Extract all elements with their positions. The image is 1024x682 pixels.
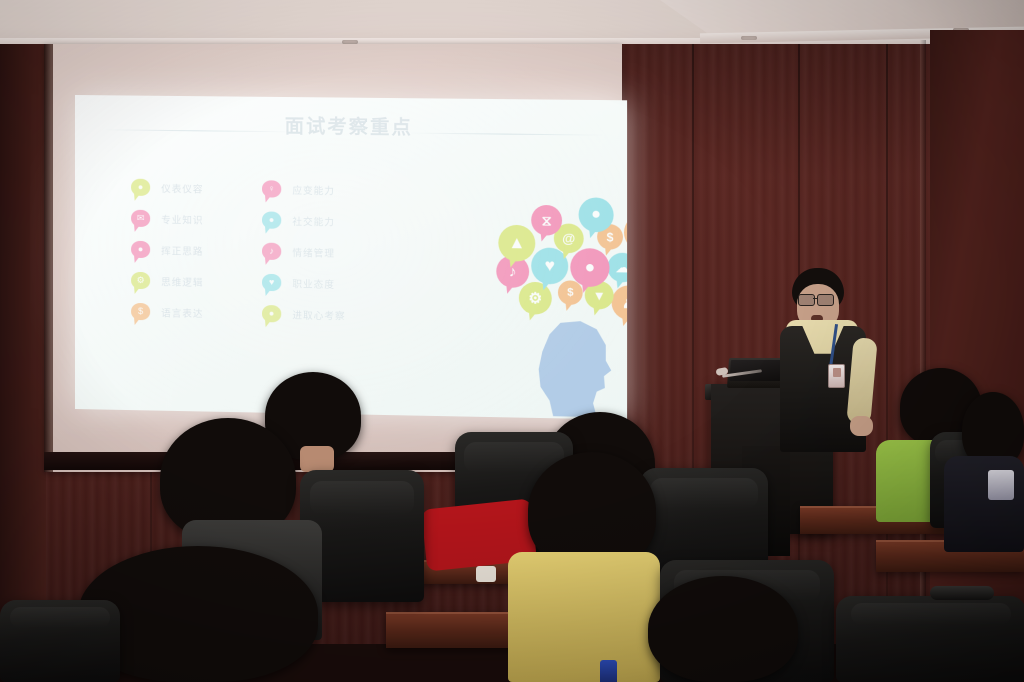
- slide-bullet-2: ✉专业知识: [131, 203, 203, 235]
- slide-bullet-label: 语言表达: [161, 305, 203, 320]
- heart-icon: ♥: [531, 247, 568, 284]
- projected-slide: 面试考察重点 ●仪表仪容✉专业知识●挥正思路⚙思维逻辑$语言表达 ♀应变能力●社…: [75, 95, 627, 420]
- glasses-icon: [798, 294, 838, 304]
- speech-bubble-envelope-icon: ✉: [131, 210, 150, 227]
- slide-bullet-label: 进取心考察: [292, 307, 345, 322]
- slide-bullet-1: ♀应变能力: [262, 173, 346, 205]
- screen-frame-left: [44, 44, 53, 472]
- graduation-cap-icon: ▲: [498, 225, 535, 262]
- chair: [0, 600, 120, 682]
- speaker: [770, 268, 880, 488]
- audience-member-yellow-shirt: [508, 552, 660, 682]
- blue-water-bottle: [600, 660, 617, 682]
- head-silhouette-icon: [533, 318, 624, 417]
- speech-bubble-gear-icon: ⚙: [131, 272, 150, 289]
- slide-bullet-1: ●仪表仪容: [131, 172, 203, 204]
- jacket-logo-patch: [988, 470, 1014, 500]
- slide-bullet-5: ●进取心考察: [262, 298, 346, 331]
- paper-cup: [476, 566, 496, 582]
- slide-bullet-label: 挥正思路: [161, 243, 203, 258]
- slide-bullet-label: 职业态度: [292, 276, 335, 291]
- slide-bullet-3: ♪情绪管理: [262, 236, 346, 268]
- slide-right-column: ♀应变能力●社交能力♪情绪管理♥职业态度●进取心考察: [262, 173, 346, 330]
- slide-bullet-2: ●社交能力: [262, 204, 346, 236]
- hourglass-icon: ⧖: [531, 205, 562, 236]
- wall-left-shadow: [0, 44, 46, 644]
- audience-member-front-right: [648, 576, 798, 682]
- speech-bubble-person-icon: ♀: [262, 180, 281, 197]
- recycle-icon: ♻: [624, 214, 627, 251]
- speech-bubble-dollar-icon: $: [131, 303, 150, 320]
- slide-bullet-4: ♥职业态度: [262, 267, 346, 300]
- speech-bubble-music-icon: ♪: [262, 243, 281, 260]
- slide-bullet-4: ⚙思维逻辑: [131, 265, 203, 297]
- chair-arm: [930, 586, 994, 600]
- slide-bullet-label: 思维逻辑: [161, 274, 203, 289]
- thumbs-up-icon: ●: [579, 197, 614, 232]
- slide-bullet-label: 应变能力: [292, 182, 335, 197]
- gear-icon: ⚙: [519, 282, 552, 315]
- slide-bullet-label: 仪表仪容: [161, 181, 203, 196]
- speech-bubble-chat-alt-icon: ●: [262, 305, 281, 322]
- speech-bubble-heart-icon: ♥: [262, 274, 281, 291]
- ceiling-downlight-icon: [741, 36, 757, 40]
- speech-bubble-chat-icon: ●: [262, 211, 281, 228]
- speaker-hand: [850, 416, 873, 436]
- slide-bullet-label: 专业知识: [161, 212, 203, 227]
- speech-bubble-smile-icon: ●: [131, 179, 150, 196]
- slide-title: 面试考察重点: [75, 109, 627, 142]
- id-badge: [828, 364, 845, 388]
- slide-bullet-label: 情绪管理: [292, 245, 335, 260]
- chair: [836, 596, 1024, 682]
- lecture-hall-photo: 面试考察重点 ●仪表仪容✉专业知识●挥正思路⚙思维逻辑$语言表达 ♀应变能力●社…: [0, 0, 1024, 682]
- slide-left-column: ●仪表仪容✉专业知识●挥正思路⚙思维逻辑$语言表达: [131, 172, 203, 328]
- cloud-icon: ☁: [607, 253, 627, 283]
- people-icon: ♟: [612, 285, 628, 320]
- slide-bullet-5: $语言表达: [131, 296, 203, 328]
- slide-bullet-label: 社交能力: [292, 213, 335, 228]
- mind-bubbles-illustration: ♟▼$⚙✉☁●♥♪♻$●@⧖▲: [480, 196, 627, 418]
- neck: [300, 446, 334, 472]
- speech-bubble-lightbulb-icon: ●: [131, 241, 150, 258]
- lightbulb-icon: ●: [570, 248, 609, 287]
- slide-bullet-3: ●挥正思路: [131, 234, 203, 266]
